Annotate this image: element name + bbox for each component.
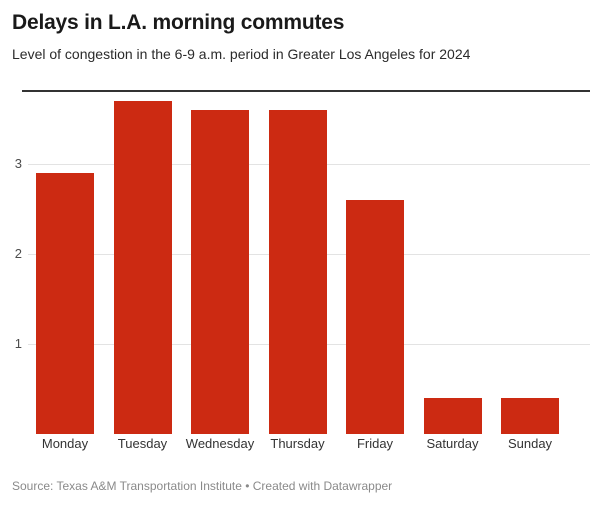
x-axis-category-label: Thursday: [260, 436, 336, 451]
x-axis-category-label: Tuesday: [105, 436, 181, 451]
x-axis-category-label: Monday: [27, 436, 103, 451]
chart-subtitle: Level of congestion in the 6-9 a.m. peri…: [12, 45, 588, 63]
chart-container: Delays in L.A. morning commutes Level of…: [0, 0, 600, 507]
x-axis-category-label: Saturday: [415, 436, 491, 451]
axis-layer: MondayTuesdayWednesdayThursdayFridaySatu…: [0, 90, 600, 450]
x-axis-category-label: Friday: [337, 436, 413, 451]
chart-header: Delays in L.A. morning commutes Level of…: [0, 0, 600, 63]
plot-area: 123 MondayTuesdayWednesdayThursdayFriday…: [0, 90, 600, 450]
chart-footer: Source: Texas A&M Transportation Institu…: [12, 479, 392, 494]
axis-baseline: [22, 90, 590, 92]
x-axis-category-label: Sunday: [492, 436, 568, 451]
x-axis-category-label: Wednesday: [182, 436, 258, 451]
chart-title: Delays in L.A. morning commutes: [12, 10, 588, 35]
